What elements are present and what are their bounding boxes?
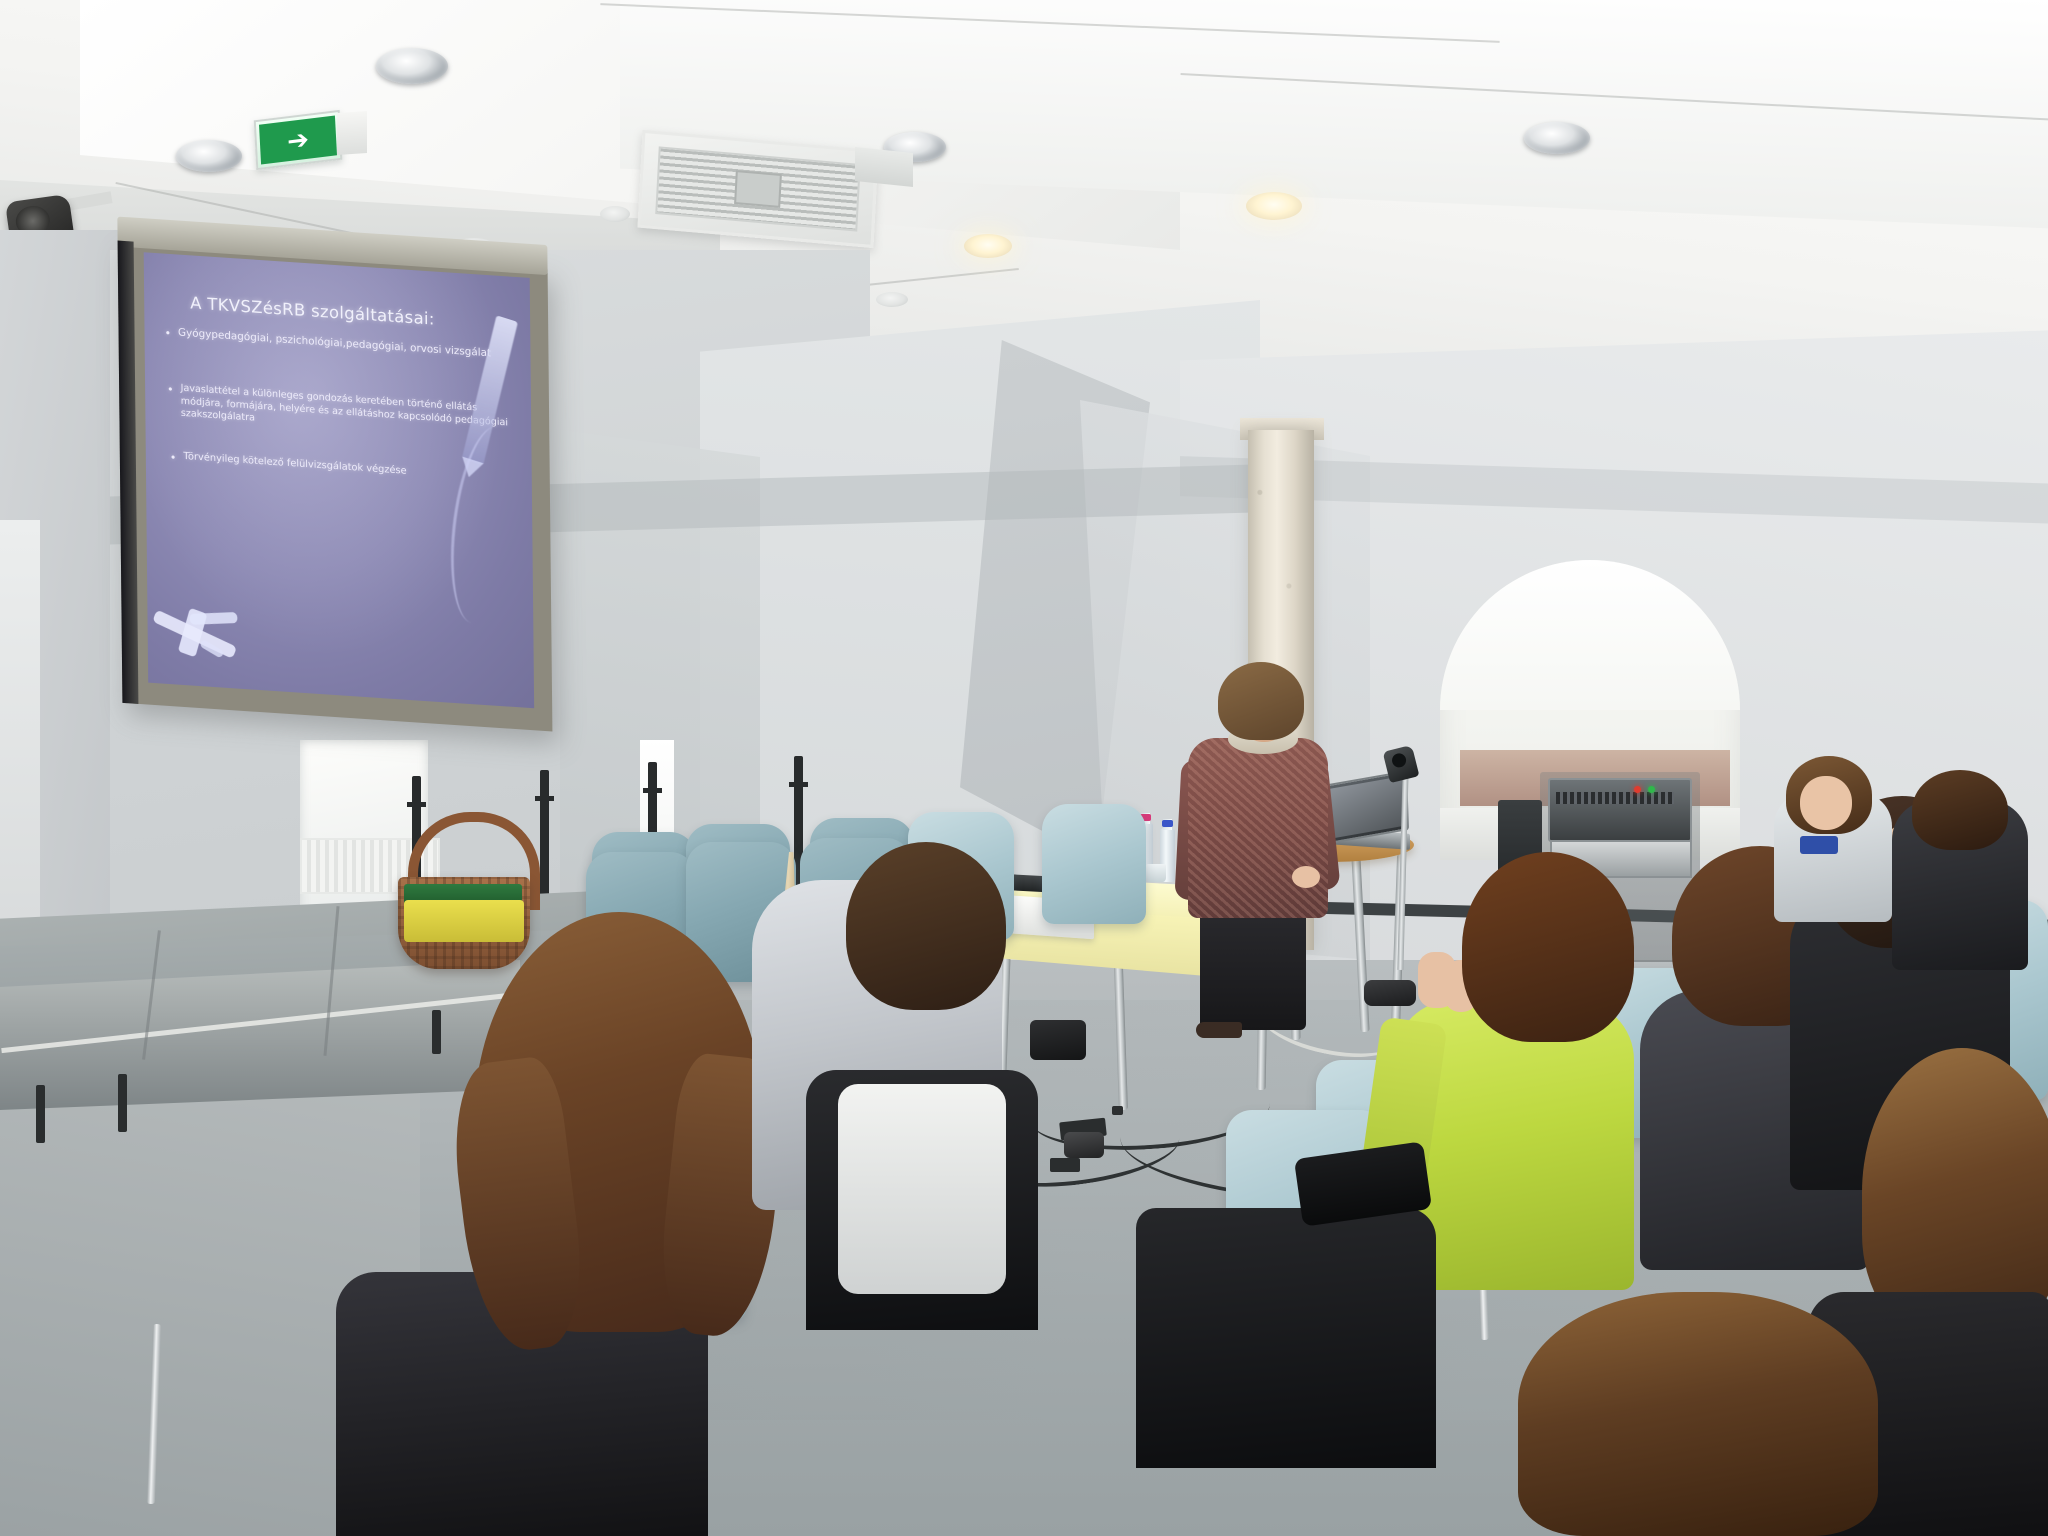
power-strip bbox=[1064, 1132, 1104, 1158]
basket-flowers bbox=[404, 900, 524, 942]
projection-screen: A TKVSZésRB szolgáltatásai: • Gyógypedag… bbox=[118, 241, 553, 732]
projected-slide: A TKVSZésRB szolgáltatásai: • Gyógypedag… bbox=[144, 252, 534, 708]
staff-badge-icon bbox=[1800, 836, 1838, 854]
audio-mixer-rack bbox=[1548, 778, 1692, 842]
exit-arrow-icon: ➔ bbox=[286, 126, 309, 155]
downlight-icon bbox=[876, 292, 908, 307]
audience-lap bbox=[1136, 1208, 1436, 1468]
stage-leg bbox=[118, 1074, 127, 1132]
audience-hair bbox=[1462, 852, 1634, 1042]
mixer-knob-row bbox=[1556, 792, 1674, 804]
cable-tape bbox=[1050, 1158, 1080, 1172]
staff-face bbox=[1800, 776, 1852, 830]
stage-leg bbox=[36, 1085, 45, 1143]
exit-sign-icon: ➔ bbox=[254, 110, 342, 170]
bag-on-floor bbox=[1030, 1020, 1086, 1060]
drinking-glass bbox=[1146, 864, 1166, 882]
chair[interactable] bbox=[1042, 804, 1146, 924]
bullet-marker-icon: • bbox=[170, 450, 177, 466]
airplane-graphic-icon bbox=[163, 598, 260, 666]
downlight-icon bbox=[600, 206, 630, 222]
bottle-cap bbox=[1162, 820, 1173, 827]
bullet-marker-icon: • bbox=[167, 382, 174, 420]
rack-led-green bbox=[1648, 786, 1655, 793]
audience-hair bbox=[1518, 1292, 1878, 1536]
audience-hair bbox=[1912, 770, 2008, 850]
stage-leg bbox=[432, 1010, 441, 1054]
audience-hair bbox=[846, 842, 1006, 1010]
presenter-hair bbox=[1218, 662, 1304, 740]
rack-led-red bbox=[1634, 786, 1641, 793]
window-sky bbox=[1440, 560, 1740, 710]
downlight-lit-icon bbox=[964, 234, 1012, 258]
downlight-icon bbox=[376, 48, 448, 84]
chair-headrest-cover bbox=[838, 1084, 1006, 1294]
exit-sign-face: ➔ bbox=[259, 115, 337, 164]
presenter-legs bbox=[1200, 900, 1306, 1030]
ac-duct bbox=[855, 147, 913, 187]
downlight-icon bbox=[1524, 122, 1590, 154]
presenter-hand bbox=[1292, 866, 1320, 888]
presenter-shoe bbox=[1196, 1022, 1242, 1038]
downlight-lit-icon bbox=[1246, 192, 1302, 220]
ac-center-plate bbox=[734, 170, 782, 208]
handbag bbox=[1364, 980, 1416, 1006]
ceiling-ac-vent-icon bbox=[637, 130, 878, 248]
downlight-icon bbox=[176, 140, 242, 172]
presenter-torso bbox=[1188, 738, 1328, 918]
table-leg-foot bbox=[1112, 1106, 1123, 1115]
bullet-marker-icon: • bbox=[164, 326, 171, 342]
conference-room-photo: ➔ A TKVSZésRB szolgáltatásai: bbox=[0, 0, 2048, 1536]
exit-sign-housing bbox=[337, 111, 367, 155]
